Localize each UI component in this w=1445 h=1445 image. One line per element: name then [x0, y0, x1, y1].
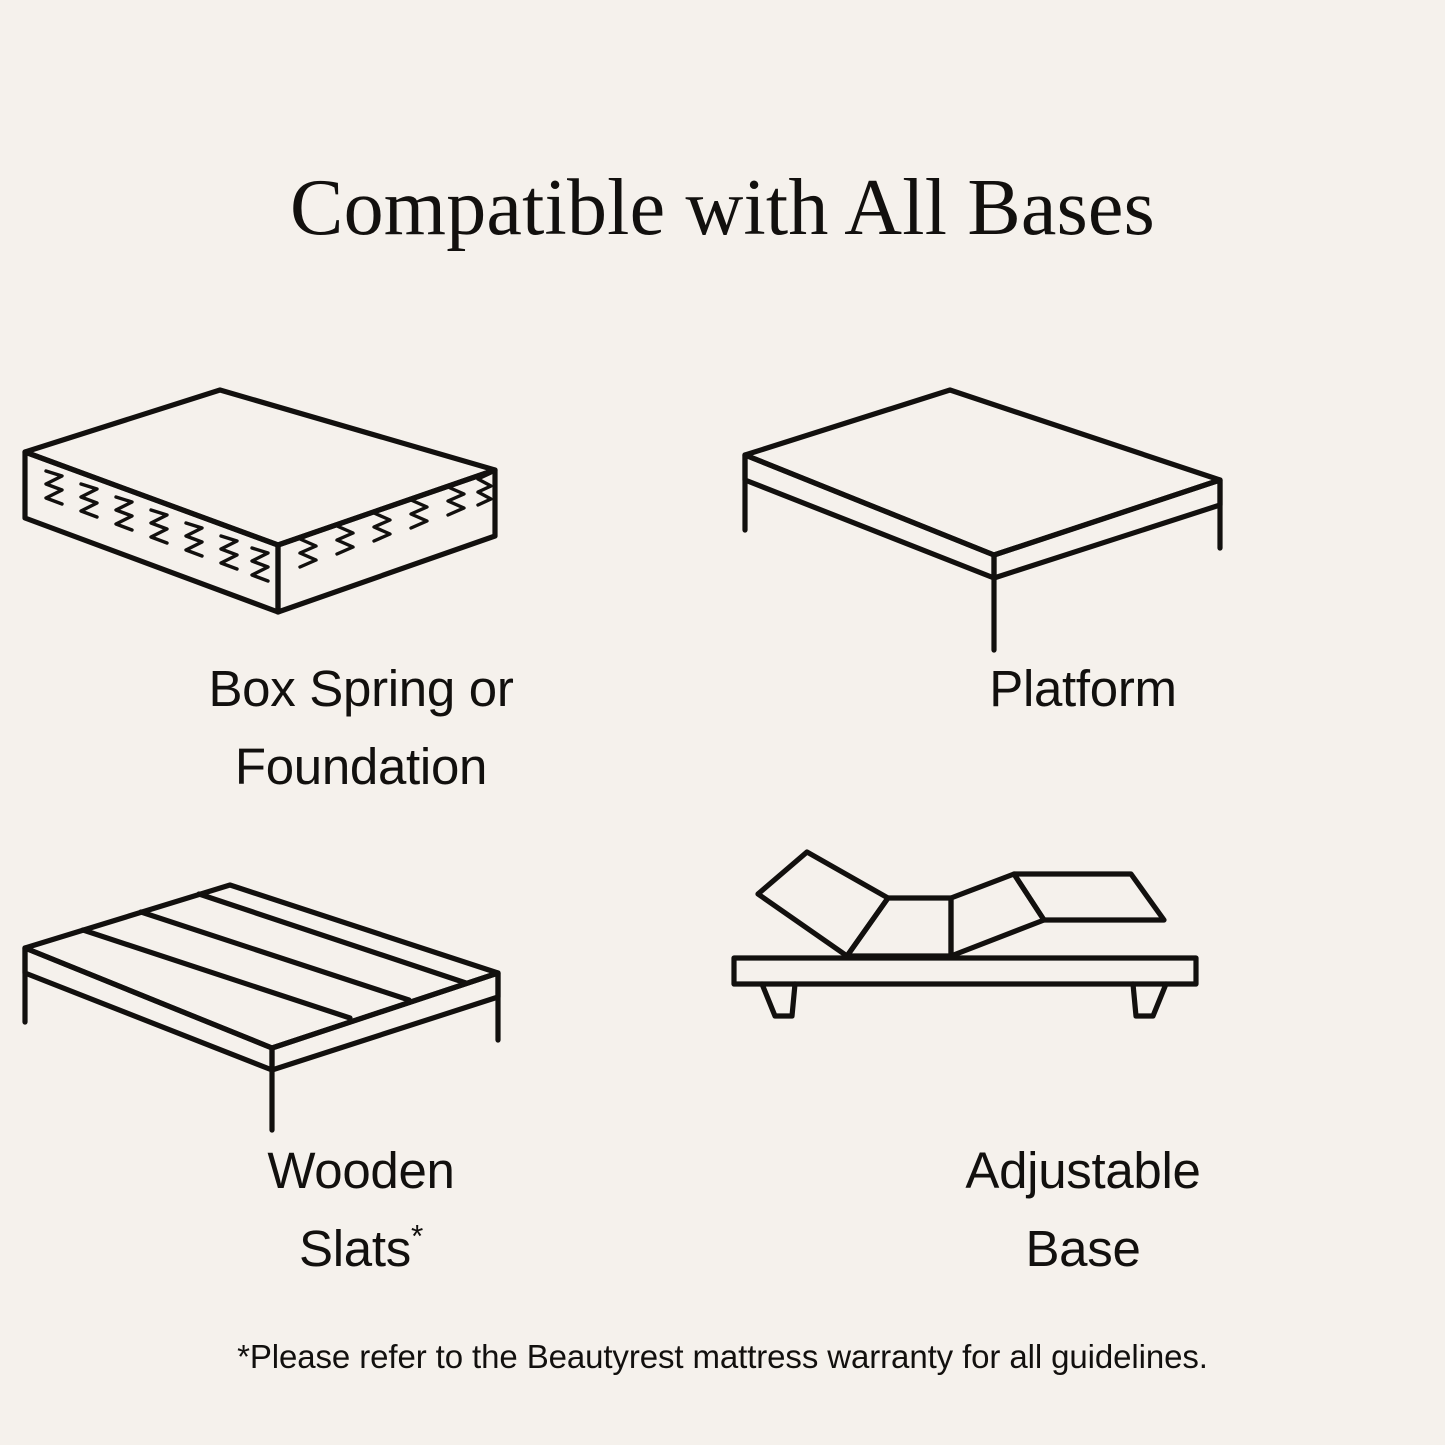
- adjustable-base-icon: [722, 830, 1444, 1130]
- caption-line-1: Platform: [722, 650, 1444, 728]
- bases-grid: Box Spring or Foundation: [0, 350, 1445, 1310]
- base-item-wooden-slats: Wooden Slats*: [0, 830, 722, 1310]
- footnote-text: *Please refer to the Beautyrest mattress…: [0, 1336, 1445, 1379]
- base-item-platform: Platform: [722, 350, 1444, 830]
- platform-bed-icon: [722, 350, 1444, 650]
- box-spring-icon: [0, 350, 722, 650]
- footnote-asterisk: *: [411, 1217, 423, 1253]
- caption-line-1: Box Spring or: [0, 650, 722, 728]
- base-label-adjustable-base: Adjustable Base: [722, 1132, 1444, 1287]
- caption-line-1: Wooden: [0, 1132, 722, 1210]
- base-label-wooden-slats: Wooden Slats*: [0, 1132, 722, 1287]
- caption-line-2: Slats: [299, 1220, 411, 1277]
- caption-line-2: Foundation: [0, 728, 722, 806]
- base-label-platform: Platform: [722, 650, 1444, 728]
- infographic-page: Compatible with All Bases: [0, 0, 1445, 1445]
- page-title: Compatible with All Bases: [0, 166, 1445, 250]
- base-label-box-spring: Box Spring or Foundation: [0, 650, 722, 805]
- base-item-adjustable-base: Adjustable Base: [722, 830, 1444, 1310]
- base-item-box-spring: Box Spring or Foundation: [0, 350, 722, 830]
- caption-line-2-wrap: Slats*: [0, 1210, 722, 1288]
- caption-line-2: Base: [722, 1210, 1444, 1288]
- wooden-slats-icon: [0, 830, 722, 1130]
- caption-line-1: Adjustable: [722, 1132, 1444, 1210]
